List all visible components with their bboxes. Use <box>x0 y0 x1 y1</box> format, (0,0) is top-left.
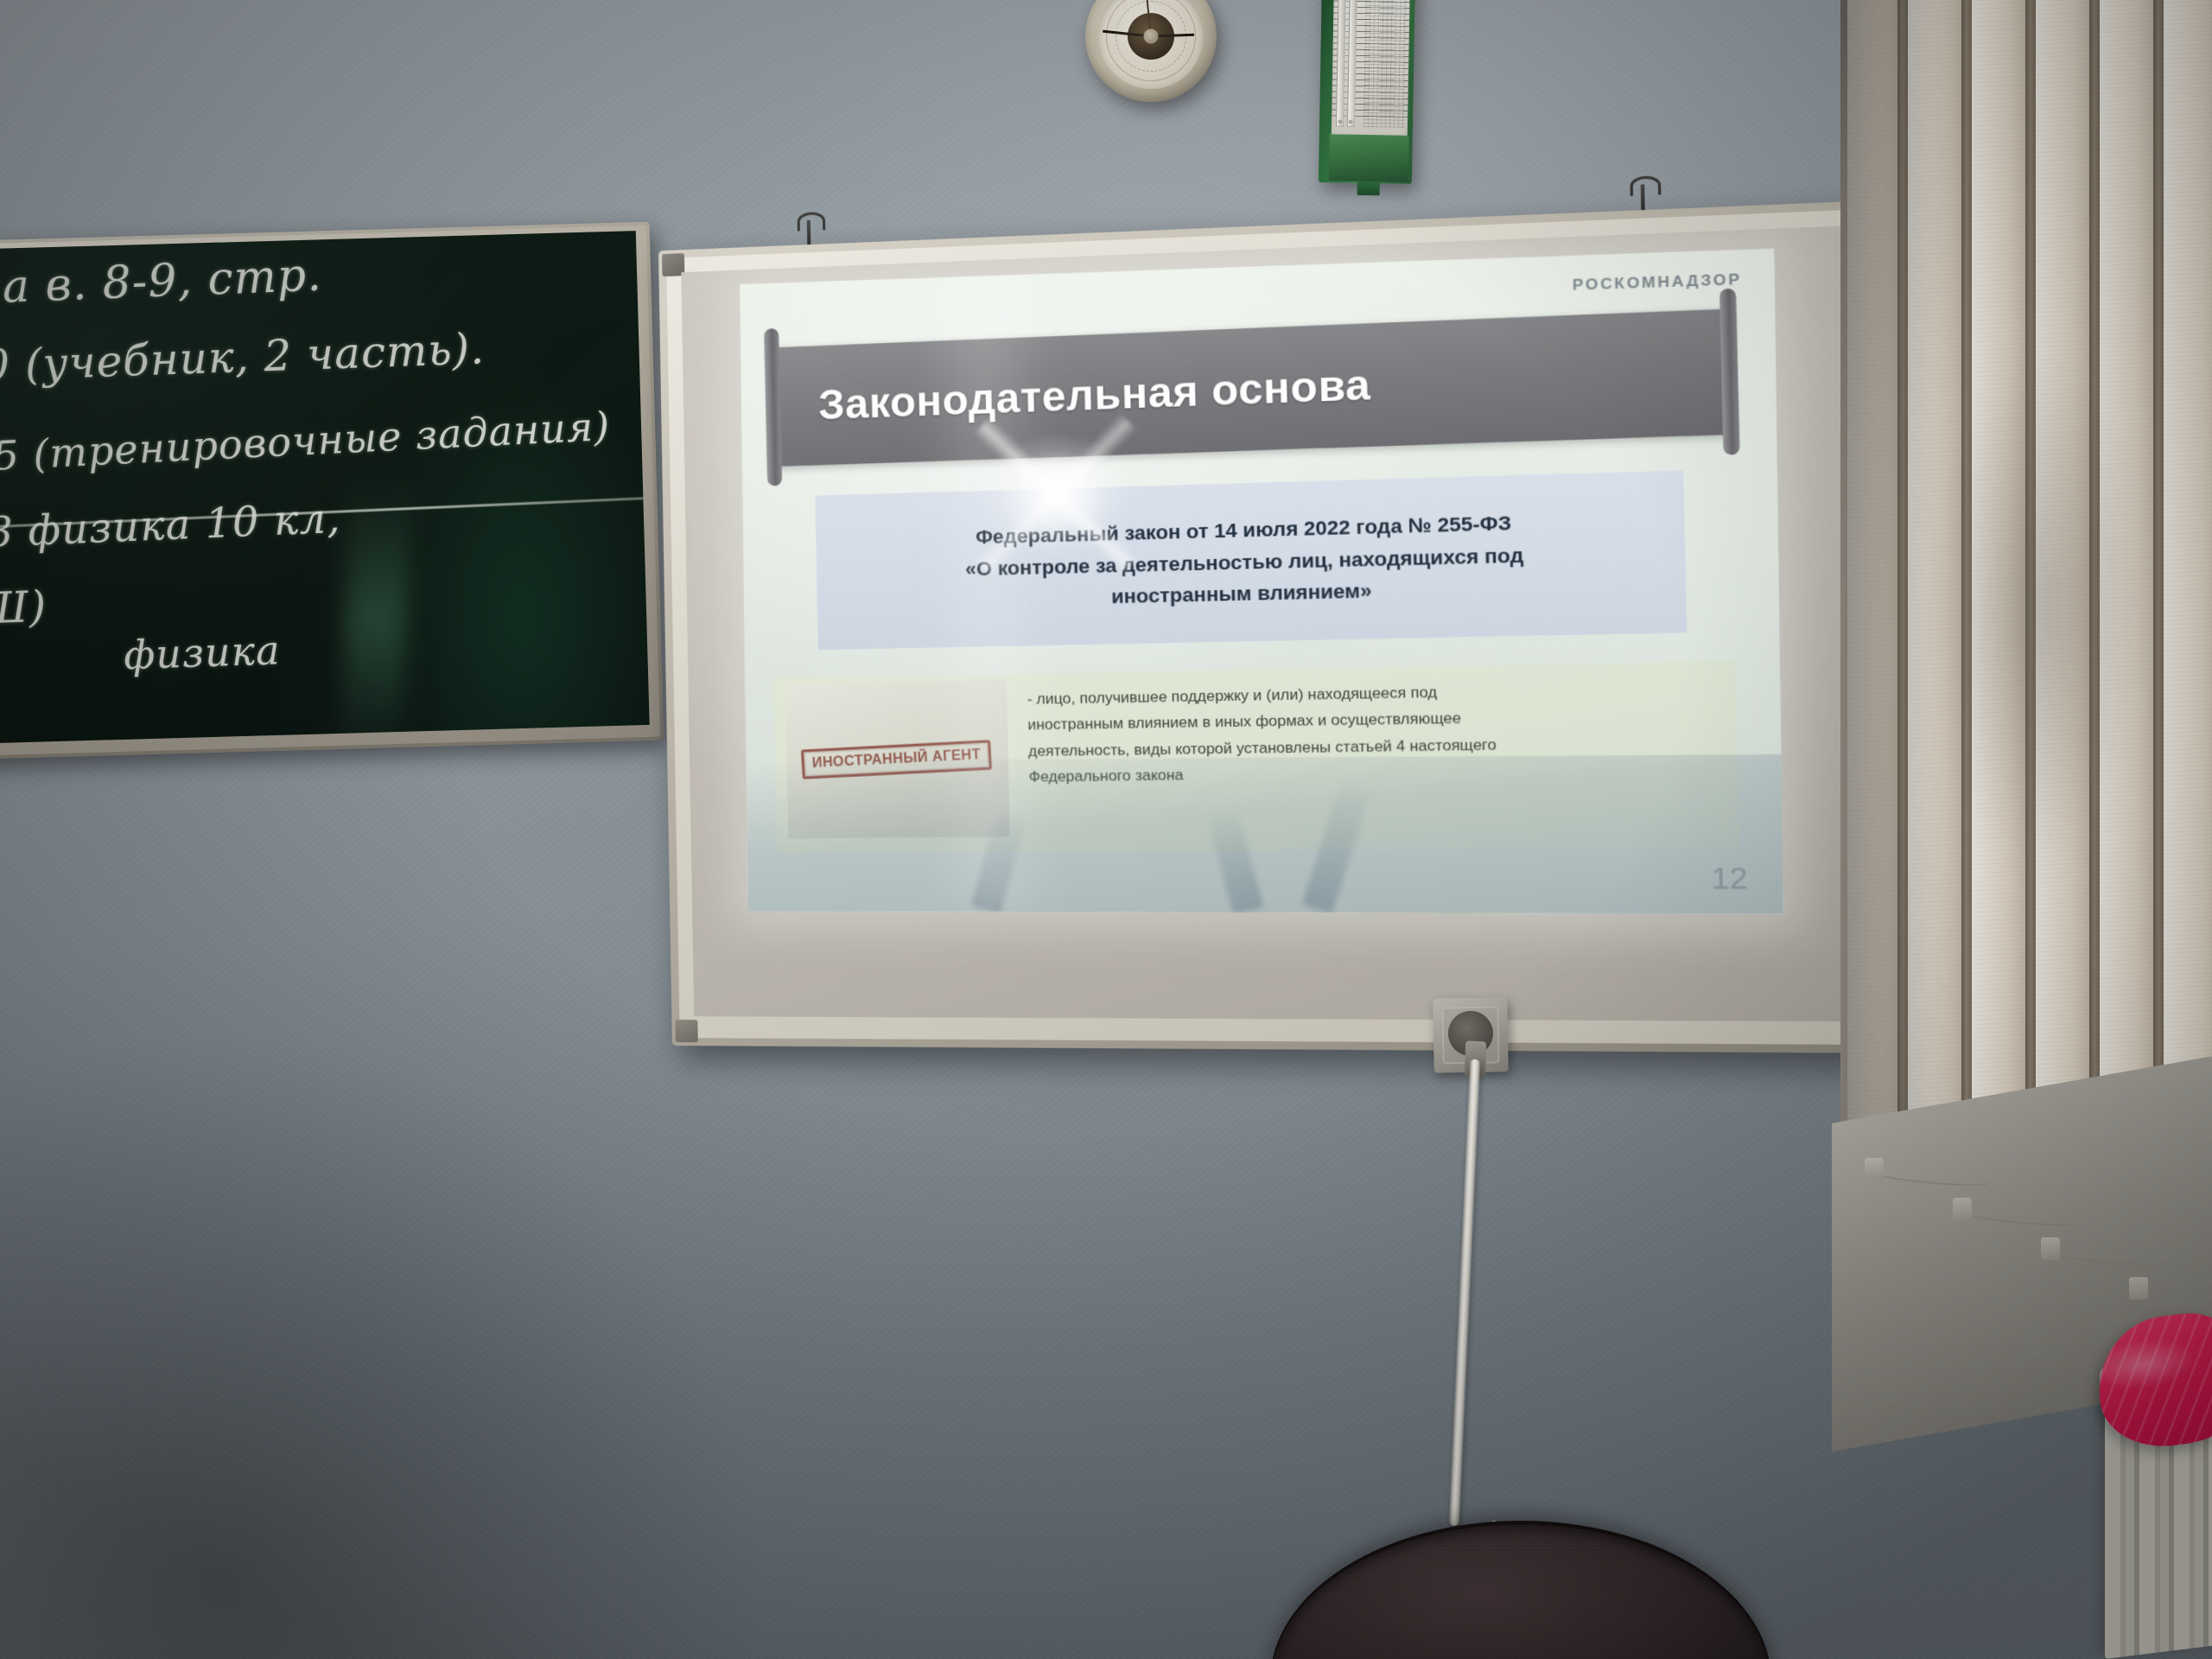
chalkboard: в. на в. 8-9, стр. -100 (учебник, 2 част… <box>0 222 664 760</box>
blind-weight <box>1865 1158 1884 1180</box>
psychrometer-foot <box>1357 181 1380 195</box>
slide-title-banner: Законодательная основа <box>769 308 1733 467</box>
slide-page-number: 12 <box>1711 861 1748 897</box>
psychrometer-card <box>1332 0 1410 137</box>
psychrometer-icon <box>1319 0 1415 184</box>
foreign-agent-stamp-image: ИНОСТРАННЫЙ АГЕНТ <box>785 680 1009 839</box>
chalk-line: -100 (учебник, 2 часть). <box>0 321 639 390</box>
whiteboard-screen: РОСКОМНАДЗОР Законодательная основа Феде… <box>658 200 1889 1053</box>
chalk-line: к 23 физика 10 кл, <box>0 485 645 556</box>
roskomnadzor-logo: РОСКОМНАДЗОР <box>1572 270 1741 295</box>
whiteboard-surface: РОСКОМНАДЗОР Законодательная основа Феде… <box>681 226 1859 1021</box>
blind-weight <box>1953 1198 1972 1220</box>
psychrometer-base <box>1329 134 1409 182</box>
whiteboard-frame: РОСКОМНАДЗОР Законодательная основа Феде… <box>658 200 1889 1053</box>
slide-title: Законодательная основа <box>817 360 1371 429</box>
law-line: иностранным влиянием» <box>1111 578 1372 611</box>
definition-text: - лицо, получившее поддержку и (или) нах… <box>1023 670 1709 846</box>
law-reference-block: Федеральный закон от 14 июля 2022 года №… <box>815 470 1687 650</box>
chalkboard-frame: в. на в. 8-9, стр. -100 (учебник, 2 част… <box>0 222 664 760</box>
chalkboard-surface: в. на в. 8-9, стр. -100 (учебник, 2 част… <box>0 231 650 744</box>
classroom-scene: в. на в. 8-9, стр. -100 (учебник, 2 част… <box>0 0 2212 1659</box>
banner-end-left <box>763 327 781 486</box>
barometer-hub <box>1144 29 1159 44</box>
definition-block: ИНОСТРАННЫЙ АГЕНТ - лицо, получившее под… <box>773 661 1739 855</box>
chalkboard-writing: в. на в. 8-9, стр. -100 (учебник, 2 част… <box>0 241 648 679</box>
chalk-line: 3,4,5 (тренировочные задания) <box>0 404 642 480</box>
banner-end-right <box>1719 288 1740 454</box>
foreign-agent-stamp-label: ИНОСТРАННЫЙ АГЕНТ <box>801 741 993 780</box>
psychrometer-table <box>1363 0 1407 127</box>
projected-slide: РОСКОМНАДЗОР Законодательная основа Феде… <box>740 248 1783 913</box>
barometer-face <box>1098 0 1204 89</box>
blind-weight <box>2129 1277 2148 1300</box>
blind-weight <box>2041 1237 2060 1260</box>
frame-corner <box>675 1020 697 1042</box>
